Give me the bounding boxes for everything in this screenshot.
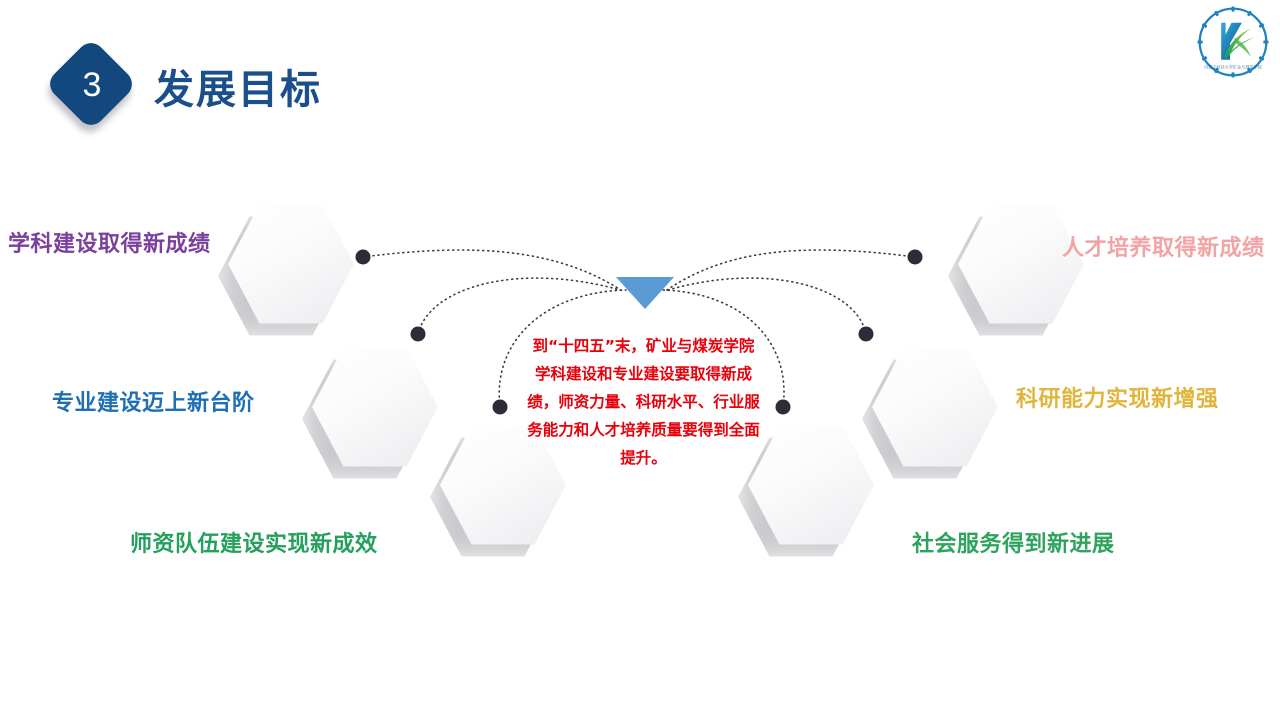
slide-header: 3 发展目标 — [0, 0, 1280, 140]
center-triangle-marker — [616, 277, 674, 309]
connector-dot-right-top — [908, 250, 923, 265]
goal-label-faculty-team[interactable]: 师资队伍建设实现新成效 — [130, 526, 378, 558]
goal-label-major-construction[interactable]: 专业建设迈上新台阶 — [52, 385, 255, 417]
connector-dot-left-top — [356, 250, 371, 265]
connector-dot-left-mid — [411, 327, 426, 342]
goal-label-social-service[interactable]: 社会服务得到新进展 — [912, 526, 1115, 558]
connector-dot-right-mid — [859, 327, 874, 342]
section-number-badge: 3 — [48, 41, 136, 129]
badge-number-label: 3 — [48, 41, 136, 129]
goal-label-research-capability[interactable]: 科研能力实现新增强 — [1016, 381, 1219, 413]
connector-path-right-top — [664, 250, 915, 292]
connector-path-left-mid — [418, 278, 620, 334]
connector-dot-right-bottom — [776, 400, 791, 415]
college-logo-icon: 内蒙古科技大学矿业与煤炭学院 — [1196, 5, 1270, 79]
page-title: 发展目标 — [154, 57, 322, 115]
connector-dot-left-bottom — [493, 400, 508, 415]
goal-label-talent-cultivation[interactable]: 人才培养取得新成绩 — [1062, 230, 1265, 262]
goal-label-discipline-construction[interactable]: 学科建设取得新成绩 — [8, 226, 211, 258]
center-summary-text: 到“十四五”末，矿业与煤炭学院学科建设和专业建设要取得新成绩，师资力量、科研水平… — [527, 332, 760, 472]
slide-canvas: 3 发展目标 — [0, 0, 1280, 720]
logo-ring-text: 内蒙古科技大学矿业与煤炭学院 — [1204, 64, 1262, 70]
connector-path-right-mid — [668, 278, 866, 334]
connector-path-left-top — [363, 250, 624, 292]
